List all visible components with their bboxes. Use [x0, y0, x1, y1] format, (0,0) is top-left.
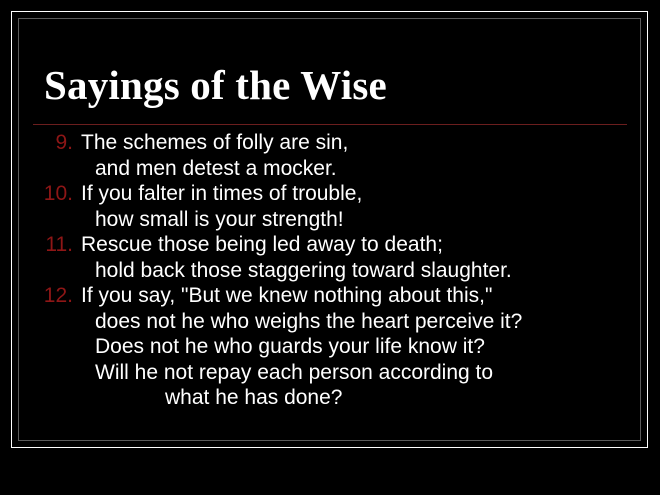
list-item-line: Does not he who guards your life know it… — [81, 334, 633, 360]
list-item-line: what he has done? — [81, 385, 633, 411]
list-item-line: Rescue those being led away to death; — [81, 232, 633, 258]
list-item-text: If you say, "But we knew nothing about t… — [81, 283, 633, 411]
list-item-line: If you falter in times of trouble, — [81, 181, 633, 207]
list-item: 10. If you falter in times of trouble, h… — [33, 181, 633, 232]
list-item-text: If you falter in times of trouble, how s… — [81, 181, 633, 232]
list-item: 12. If you say, "But we knew nothing abo… — [33, 283, 633, 411]
list-item-number: 9. — [33, 130, 81, 156]
list-item-line: If you say, "But we knew nothing about t… — [81, 283, 633, 309]
numbered-list: 9. The schemes of folly are sin, and men… — [33, 130, 633, 411]
list-item-line: how small is your strength! — [81, 207, 633, 233]
list-item-line: Will he not repay each person according … — [81, 360, 633, 386]
list-item-text: The schemes of folly are sin, and men de… — [81, 130, 633, 181]
slide-title: Sayings of the Wise — [44, 62, 387, 108]
list-item-line: The schemes of folly are sin, — [81, 130, 633, 156]
list-item-number: 11. — [33, 232, 81, 258]
list-item: 11. Rescue those being led away to death… — [33, 232, 633, 283]
list-item-line: hold back those staggering toward slaugh… — [81, 258, 633, 284]
list-item-line: does not he who weighs the heart perceiv… — [81, 309, 633, 335]
list-item-text: Rescue those being led away to death; ho… — [81, 232, 633, 283]
list-item: 9. The schemes of folly are sin, and men… — [33, 130, 633, 181]
title-separator-rule — [33, 124, 627, 125]
list-item-line: and men detest a mocker. — [81, 156, 633, 182]
list-item-number: 10. — [33, 181, 81, 207]
list-item-number: 12. — [33, 283, 81, 309]
presentation-slide: Sayings of the Wise 9. The schemes of fo… — [0, 0, 660, 495]
